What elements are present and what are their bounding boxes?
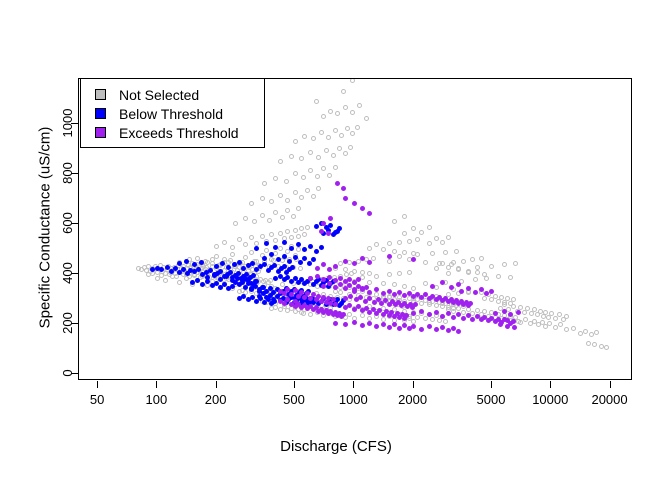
data-point (381, 291, 386, 296)
data-point (296, 247, 301, 252)
legend-swatch-not-selected (95, 89, 106, 100)
y-axis-tick-label: 600 (48, 203, 88, 243)
data-point (592, 342, 597, 347)
data-point (586, 341, 591, 346)
data-point (511, 319, 516, 324)
data-point (343, 151, 348, 156)
legend-swatch-below-threshold (95, 108, 106, 119)
data-point (260, 196, 265, 201)
data-point (415, 237, 420, 242)
data-point (355, 125, 360, 130)
data-point (558, 322, 563, 327)
x-axis-tick (550, 381, 551, 388)
data-point (343, 259, 348, 264)
data-point (489, 264, 494, 269)
x-axis-tick-label: 2000 (398, 392, 427, 407)
data-point (278, 246, 283, 251)
data-point (293, 228, 298, 233)
data-point (214, 244, 219, 249)
data-point (498, 322, 503, 327)
x-axis-tick-label: 20000 (591, 392, 627, 407)
data-point (315, 174, 320, 179)
data-point (315, 274, 320, 279)
data-point (352, 261, 357, 266)
data-point (505, 324, 510, 329)
x-axis-tick-label: 5000 (477, 392, 506, 407)
data-point (387, 254, 392, 259)
data-point (440, 325, 445, 330)
data-point (319, 229, 324, 234)
data-point (374, 242, 379, 247)
x-axis-tick (610, 381, 611, 388)
data-point (489, 289, 494, 294)
data-point (502, 309, 507, 314)
data-point (387, 259, 392, 264)
data-point (496, 274, 501, 279)
x-axis-tick-label: 200 (205, 392, 227, 407)
data-point (456, 267, 461, 272)
data-point (512, 325, 517, 330)
legend-item-below-threshold: Below Threshold (95, 104, 264, 123)
data-point (407, 270, 412, 275)
data-point (333, 230, 338, 235)
data-point (564, 327, 569, 332)
data-point (280, 215, 285, 220)
data-point (302, 134, 307, 139)
data-point (387, 272, 392, 277)
legend-label-exceeds-threshold: Exceeds Threshold (119, 126, 239, 140)
data-point (333, 128, 338, 133)
data-point (308, 168, 313, 173)
data-point (423, 260, 428, 265)
data-point (278, 159, 283, 164)
data-point (311, 194, 316, 199)
data-point (392, 282, 397, 287)
data-point (196, 267, 201, 272)
data-point (235, 276, 240, 281)
data-point (470, 257, 475, 262)
data-point (222, 240, 227, 245)
data-point (402, 214, 407, 219)
data-point (553, 325, 558, 330)
data-point (367, 280, 372, 285)
data-point (316, 186, 321, 191)
data-point (352, 320, 357, 325)
data-point (333, 321, 338, 326)
data-point (328, 216, 333, 221)
data-point (473, 290, 478, 295)
data-point (352, 269, 357, 274)
data-point (511, 297, 516, 302)
data-point (367, 211, 372, 216)
data-point (262, 262, 267, 267)
data-point (269, 199, 274, 204)
data-point (296, 234, 301, 239)
data-point (326, 135, 331, 140)
data-point (324, 148, 329, 153)
data-point (254, 246, 259, 251)
data-point (381, 247, 386, 252)
data-point (163, 278, 168, 283)
data-point (314, 249, 319, 254)
data-point (184, 259, 189, 264)
data-point (343, 105, 348, 110)
data-point (449, 285, 454, 290)
data-point (319, 245, 324, 250)
data-point (293, 299, 298, 304)
data-point (293, 288, 298, 293)
data-point (411, 286, 416, 291)
data-point (364, 285, 369, 290)
data-point (397, 271, 402, 276)
data-point (348, 294, 353, 299)
data-point (308, 244, 313, 249)
data-point (264, 241, 269, 246)
data-point (321, 114, 326, 119)
data-point (237, 289, 242, 294)
data-point (273, 176, 278, 181)
data-point (285, 198, 290, 203)
data-point (273, 251, 278, 256)
data-point (243, 255, 248, 260)
data-point (360, 206, 365, 211)
data-point (341, 312, 346, 317)
data-point (299, 226, 304, 231)
data-point (446, 235, 451, 240)
data-point (341, 186, 346, 191)
data-point (335, 181, 340, 186)
data-point (278, 231, 283, 236)
data-point (402, 284, 407, 289)
data-point (252, 219, 257, 224)
y-axis-tick-label: 0 (48, 353, 88, 393)
data-point (360, 313, 365, 318)
data-point (289, 154, 294, 159)
data-point (456, 329, 461, 334)
data-point (578, 331, 583, 336)
data-point (430, 284, 435, 289)
data-point (302, 247, 307, 252)
data-point (352, 201, 357, 206)
data-point (367, 321, 372, 326)
data-point (268, 278, 273, 283)
data-point (583, 329, 588, 334)
data-point (230, 245, 235, 250)
data-point (285, 208, 290, 213)
data-point (243, 216, 248, 221)
data-point (367, 246, 372, 251)
data-point (150, 271, 155, 276)
data-point (538, 309, 543, 314)
data-point (250, 261, 255, 266)
data-point (214, 254, 219, 259)
data-point (314, 99, 319, 104)
data-point (402, 250, 407, 255)
data-point (367, 260, 372, 265)
data-point (343, 322, 348, 327)
legend-label-not-selected: Not Selected (119, 88, 199, 102)
data-point (333, 165, 338, 170)
x-axis-tick (156, 381, 157, 388)
data-point (594, 330, 599, 335)
data-point (298, 266, 303, 271)
data-point (357, 103, 362, 108)
x-axis-tick-label: 10000 (532, 392, 568, 407)
data-point (360, 323, 365, 328)
data-point (237, 237, 242, 242)
data-point (299, 156, 304, 161)
data-point (337, 146, 342, 151)
data-point (267, 218, 272, 223)
data-point (413, 302, 418, 307)
data-point (434, 236, 439, 241)
data-point (273, 238, 278, 243)
legend-item-not-selected: Not Selected (95, 85, 264, 104)
data-point (564, 314, 569, 319)
data-point (260, 213, 265, 218)
data-point (440, 261, 445, 266)
data-point (321, 262, 326, 267)
data-point (302, 232, 307, 237)
data-point (553, 316, 558, 321)
data-point (446, 311, 451, 316)
data-point (367, 271, 372, 276)
data-point (397, 240, 402, 245)
x-axis-title: Discharge (CFS) (0, 438, 672, 455)
data-point (311, 257, 316, 262)
data-point (293, 171, 298, 176)
y-axis-tick-label: 800 (48, 153, 88, 193)
data-point (321, 166, 326, 171)
data-point (419, 327, 424, 332)
data-point (269, 252, 274, 257)
data-point (285, 229, 290, 234)
data-point (331, 153, 336, 158)
data-point (345, 126, 350, 131)
data-point (327, 173, 332, 178)
data-point (430, 251, 435, 256)
data-point (341, 89, 346, 94)
data-point (502, 262, 507, 267)
data-point (321, 284, 326, 289)
data-point (513, 261, 518, 266)
data-point (291, 214, 296, 219)
data-point (311, 136, 316, 141)
x-axis-tick-label: 50 (90, 392, 104, 407)
data-point (374, 324, 379, 329)
data-point (249, 235, 254, 240)
data-point (298, 260, 303, 265)
data-point (301, 175, 306, 180)
data-point (273, 210, 278, 215)
data-point (547, 321, 552, 326)
x-axis-tick (353, 381, 354, 388)
data-point (328, 223, 333, 228)
data-point (260, 234, 265, 239)
data-point (473, 277, 478, 282)
data-point (315, 266, 320, 271)
x-axis-tick (97, 381, 98, 388)
data-point (316, 155, 321, 160)
data-point (356, 277, 361, 282)
data-point (387, 241, 392, 246)
data-point (411, 257, 416, 262)
data-point (237, 260, 242, 265)
legend-label-below-threshold: Below Threshold (119, 107, 223, 121)
data-point (374, 287, 379, 292)
data-point (451, 260, 456, 265)
data-point (434, 327, 439, 332)
data-point (282, 264, 287, 269)
data-point (387, 289, 392, 294)
data-point (243, 242, 248, 247)
data-point (446, 265, 451, 270)
data-point (177, 280, 182, 285)
data-point (392, 249, 397, 254)
data-point (479, 256, 484, 261)
data-point (454, 249, 459, 254)
data-point (293, 255, 298, 260)
x-axis-tick (413, 381, 414, 388)
scatter-plot-figure: 5010020050010002000500010000200000200400… (0, 0, 672, 480)
data-point (427, 241, 432, 246)
data-point (327, 267, 332, 272)
data-point (289, 246, 294, 251)
data-point (290, 265, 295, 270)
data-point (333, 264, 338, 269)
data-point (302, 256, 307, 261)
y-axis-tick-label: 200 (48, 303, 88, 343)
data-point (364, 116, 369, 121)
x-axis-tick (491, 381, 492, 388)
x-axis-tick-label: 500 (283, 392, 305, 407)
data-point (233, 221, 238, 226)
data-point (443, 319, 448, 324)
data-point (343, 296, 348, 301)
data-point (350, 110, 355, 115)
data-point (319, 130, 324, 135)
y-axis-tick-label: 400 (48, 253, 88, 293)
data-point (249, 250, 254, 255)
data-point (446, 328, 451, 333)
legend-item-exceeds-threshold: Exceeds Threshold (95, 123, 264, 142)
data-point (284, 179, 289, 184)
data-point (508, 275, 513, 280)
data-point (461, 259, 466, 264)
data-point (434, 310, 439, 315)
data-point (253, 279, 258, 284)
data-point (475, 270, 480, 275)
data-point (307, 261, 312, 266)
legend-swatch-exceeds-threshold (95, 127, 106, 138)
y-axis-title: Specific Conductance (uS/cm) (37, 78, 54, 378)
data-point (440, 280, 445, 285)
data-point (387, 325, 392, 330)
data-point (293, 190, 298, 195)
data-point (571, 326, 576, 331)
data-point (446, 271, 451, 276)
data-point (415, 252, 420, 257)
x-axis-tick-label: 100 (146, 392, 168, 407)
data-point (423, 281, 428, 286)
data-point (308, 312, 313, 317)
data-point (419, 230, 424, 235)
data-point (374, 274, 379, 279)
data-point (440, 314, 445, 319)
data-point (456, 282, 461, 287)
data-point (305, 188, 310, 193)
data-point (299, 290, 304, 295)
data-point (314, 224, 319, 229)
data-point (392, 219, 397, 224)
data-point (328, 109, 333, 114)
data-point (278, 193, 283, 198)
x-axis-tick (216, 381, 217, 388)
data-point (282, 254, 287, 259)
data-point (482, 296, 487, 301)
data-point (549, 311, 554, 316)
data-point (335, 111, 340, 116)
data-point (293, 139, 298, 144)
data-point (190, 280, 195, 285)
data-point (440, 240, 445, 245)
data-point (516, 310, 521, 315)
data-point (339, 133, 344, 138)
data-point (296, 206, 301, 211)
data-point (282, 240, 287, 245)
data-point (443, 250, 448, 255)
data-point (407, 239, 412, 244)
data-point (333, 285, 338, 290)
legend-box: Not Selected Below Threshold Exceeds Thr… (80, 78, 265, 148)
data-point (350, 79, 355, 83)
data-point (397, 254, 402, 259)
data-point (348, 145, 353, 150)
data-point (249, 201, 254, 206)
data-point (338, 290, 343, 295)
data-point (466, 269, 471, 274)
data-point (493, 294, 498, 299)
data-point (337, 226, 342, 231)
data-point (262, 181, 267, 186)
data-point (427, 324, 432, 329)
data-point (493, 311, 498, 316)
data-point (214, 264, 219, 269)
data-point (308, 150, 313, 155)
data-point (604, 345, 609, 350)
data-point (434, 266, 439, 271)
x-axis-tick (294, 381, 295, 388)
data-point (269, 232, 274, 237)
data-point (333, 278, 338, 283)
data-point (381, 281, 386, 286)
data-point (411, 324, 416, 329)
data-point (230, 252, 235, 257)
data-point (381, 322, 386, 327)
data-point (411, 226, 416, 231)
data-point (299, 195, 304, 200)
data-point (459, 289, 464, 294)
data-point (305, 225, 310, 230)
data-point (210, 257, 215, 262)
data-point (350, 131, 355, 136)
x-axis-tick-label: 1000 (339, 392, 368, 407)
data-point (427, 225, 432, 230)
data-point (289, 235, 294, 240)
data-point (419, 309, 424, 314)
data-point (230, 278, 235, 283)
data-point (343, 196, 348, 201)
